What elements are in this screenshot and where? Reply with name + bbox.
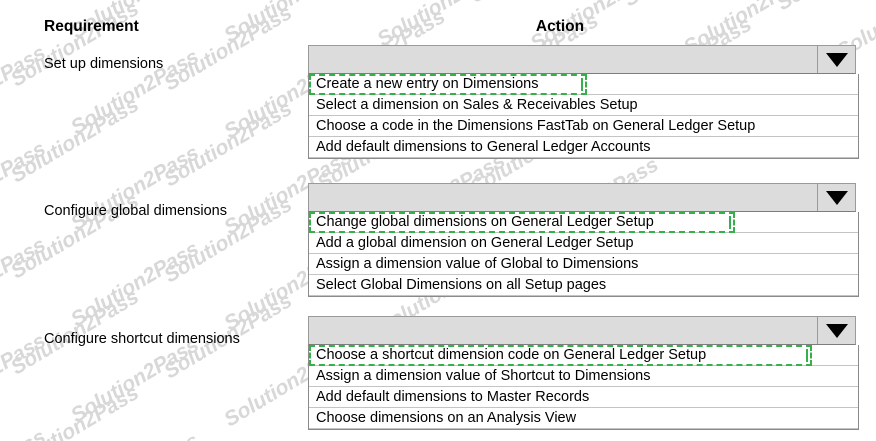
dropdown-header-0[interactable] (308, 45, 856, 74)
chevron-down-icon (826, 324, 848, 338)
dropdown-options-0[interactable]: Create a new entry on Dimensions Select … (308, 74, 859, 159)
chevron-down-icon (826, 191, 848, 205)
dropdown-options-1[interactable]: Change global dimensions on General Ledg… (308, 212, 859, 297)
dropdown-option[interactable]: Choose a shortcut dimension code on Gene… (309, 345, 858, 366)
dropdown-option[interactable]: Add default dimensions to Master Records (309, 387, 858, 408)
requirement-label-0: Set up dimensions (44, 56, 163, 72)
dropdown-toggle-2[interactable] (817, 317, 855, 344)
requirement-label-2: Configure shortcut dimensions (44, 331, 240, 347)
action-dropdown-1[interactable]: Change global dimensions on General Ledg… (308, 183, 859, 297)
dropdown-header-1[interactable] (308, 183, 856, 212)
dropdown-toggle-0[interactable] (817, 46, 855, 73)
dropdown-options-2[interactable]: Choose a shortcut dimension code on Gene… (308, 345, 859, 430)
dropdown-option[interactable]: Assign a dimension value of Shortcut to … (309, 366, 858, 387)
dropdown-option[interactable]: Select a dimension on Sales & Receivable… (309, 95, 858, 116)
dropdown-option[interactable]: Choose a code in the Dimensions FastTab … (309, 116, 858, 137)
text-caret-2 (806, 349, 808, 362)
column-header-action: Action (460, 18, 660, 36)
dropdown-option[interactable]: Change global dimensions on General Ledg… (309, 212, 858, 233)
dropdown-option[interactable]: Select Global Dimensions on all Setup pa… (309, 275, 858, 296)
dropdown-option[interactable]: Choose dimensions on an Analysis View (309, 408, 858, 429)
text-caret-0 (581, 78, 583, 91)
requirement-label-1: Configure global dimensions (44, 203, 227, 219)
dropdown-option[interactable]: Add a global dimension on General Ledger… (309, 233, 858, 254)
dropdown-option[interactable]: Create a new entry on Dimensions (309, 74, 858, 95)
action-dropdown-0[interactable]: Create a new entry on Dimensions Select … (308, 45, 859, 159)
action-dropdown-2[interactable]: Choose a shortcut dimension code on Gene… (308, 316, 859, 430)
question-content: Requirement Action Set up dimensions Cre… (0, 0, 876, 441)
dropdown-option[interactable]: Assign a dimension value of Global to Di… (309, 254, 858, 275)
column-header-requirement: Requirement (44, 18, 139, 36)
chevron-down-icon (826, 53, 848, 67)
dropdown-toggle-1[interactable] (817, 184, 855, 211)
dropdown-header-2[interactable] (308, 316, 856, 345)
dropdown-option[interactable]: Add default dimensions to General Ledger… (309, 137, 858, 158)
text-caret-1 (729, 216, 731, 229)
